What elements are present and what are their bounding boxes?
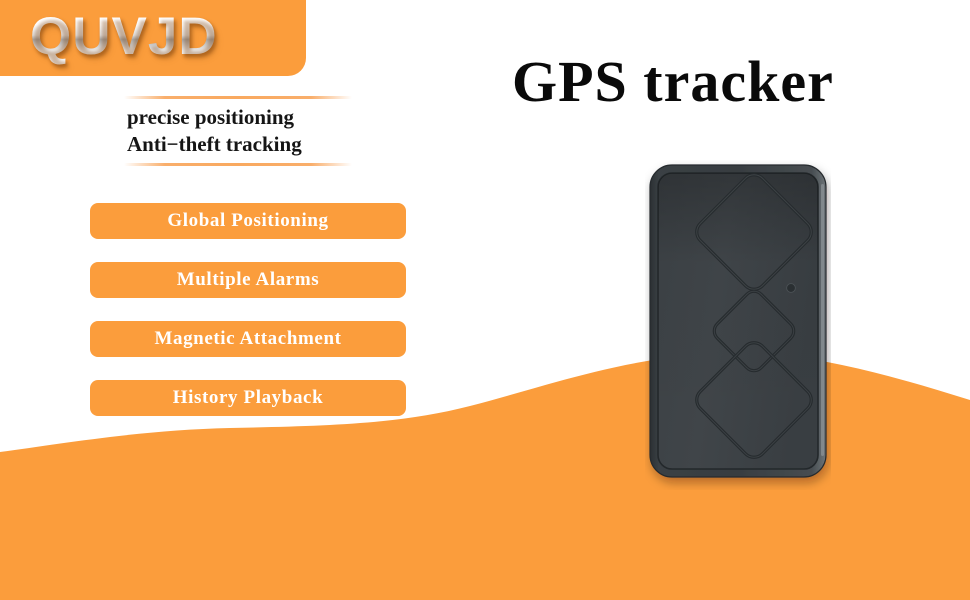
device-illustration — [645, 160, 831, 490]
tagline-line-2: Anti−theft tracking — [127, 131, 356, 158]
brand-banner: QUVJD — [0, 0, 306, 76]
feature-pill-history-playback[interactable]: History Playback — [90, 380, 406, 416]
device-edge-highlight — [821, 184, 824, 456]
feature-pill-multiple-alarms[interactable]: Multiple Alarms — [90, 262, 406, 298]
feature-pill-magnetic-attachment[interactable]: Magnetic Attachment — [90, 321, 406, 357]
feature-pill-label: Magnetic Attachment — [154, 328, 341, 350]
tagline-rule-bottom — [124, 163, 352, 166]
tagline-block: precise positioning Anti−theft tracking — [124, 96, 356, 166]
feature-pill-label: Multiple Alarms — [177, 269, 320, 291]
page-title: GPS tracker — [512, 46, 834, 118]
brand-logo-text: QUVJD — [30, 6, 218, 68]
feature-pill-label: History Playback — [173, 387, 324, 409]
tagline-line-1: precise positioning — [127, 104, 356, 131]
product-poster: QUVJD precise positioning Anti−theft tra… — [0, 0, 970, 600]
feature-list: Global Positioning Multiple Alarms Magne… — [90, 203, 406, 416]
gps-tracker-device-image — [645, 160, 831, 490]
feature-pill-label: Global Positioning — [167, 210, 328, 232]
feature-pill-global-positioning[interactable]: Global Positioning — [90, 203, 406, 239]
tagline-text: precise positioning Anti−theft tracking — [124, 99, 356, 160]
device-face — [658, 173, 818, 469]
led-dot-icon — [787, 284, 796, 293]
